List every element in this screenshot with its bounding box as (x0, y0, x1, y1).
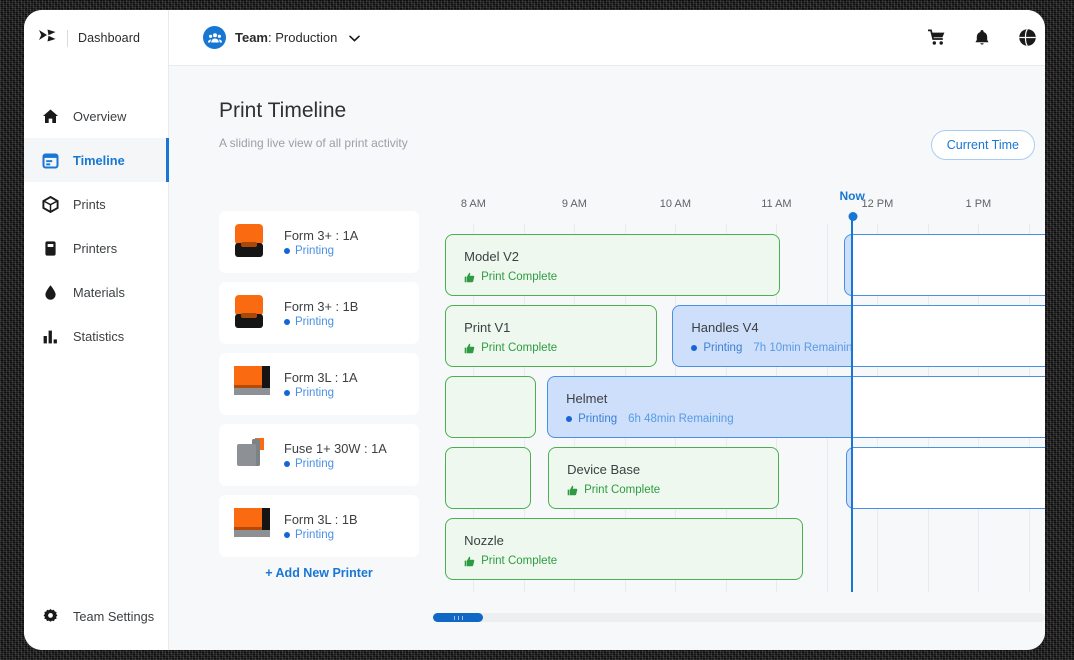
job-title: Device Base (567, 462, 778, 477)
thumbs-up-icon (464, 343, 475, 354)
main-content: Print Timeline A sliding live view of al… (169, 66, 1045, 650)
now-dot (849, 212, 858, 221)
sidebar: Dashboard Overview Timeline (24, 10, 169, 650)
form3l-printer-icon (233, 365, 271, 403)
printer-status: Printing (284, 245, 358, 257)
printer-status-label: Printing (295, 529, 334, 541)
team-prefix: Team (235, 30, 268, 45)
sidebar-nav: Overview Timeline Prints (24, 94, 168, 358)
job-status: Print Complete (464, 342, 656, 354)
axis-tick-label: 10 AM (660, 198, 691, 210)
printer-card[interactable]: Fuse 1+ 30W : 1APrinting (219, 424, 419, 486)
timeline-job-block[interactable] (445, 447, 531, 509)
job-status-label: Printing (703, 342, 742, 354)
printer-status-label: Printing (295, 387, 334, 399)
printer-icon (42, 240, 59, 257)
thumbs-up-icon (567, 485, 578, 496)
sidebar-item-label: Overview (73, 109, 126, 124)
printer-name: Fuse 1+ 30W : 1A (284, 441, 387, 456)
printer-status: Printing (284, 316, 358, 328)
axis-tick-label: 1 PM (966, 198, 992, 210)
sidebar-item-label: Prints (73, 197, 106, 212)
timeline-job-block[interactable] (445, 376, 536, 438)
job-status-label: Print Complete (481, 271, 557, 283)
timeline-job-block[interactable]: Model V2Print Complete (445, 234, 780, 296)
thumbs-up-icon (464, 556, 475, 567)
team-name: Production (275, 30, 337, 45)
bell-icon[interactable] (974, 29, 990, 46)
timeline-rows: Model V2Print CompleteBike PedalPrinting… (433, 224, 1045, 592)
printer-name: Form 3L : 1B (284, 512, 358, 527)
job-future-overlay (852, 376, 1045, 438)
axis-tick-label: 11 AM (761, 198, 791, 210)
printer-status: Printing (284, 529, 358, 541)
current-time-button[interactable]: Current Time (931, 130, 1035, 160)
status-dot-icon (284, 390, 290, 396)
status-dot-icon (566, 416, 572, 422)
job-future-overlay (852, 305, 1045, 367)
axis-tick-label: 12 PM (861, 198, 893, 210)
job-status-label: Print Complete (481, 342, 557, 354)
sidebar-item-label: Timeline (73, 153, 125, 168)
chevron-down-icon[interactable] (349, 29, 360, 47)
status-dot-icon (284, 461, 290, 467)
form3l-printer-icon (233, 507, 271, 545)
status-dot-icon (691, 345, 697, 351)
page-title: Print Timeline (219, 99, 346, 123)
printer-card[interactable]: Form 3+ : 1APrinting (219, 211, 419, 273)
sidebar-item-label: Printers (73, 241, 117, 256)
sidebar-item-prints[interactable]: Prints (24, 182, 168, 226)
status-dot-icon (284, 248, 290, 254)
printer-name: Form 3+ : 1B (284, 299, 358, 314)
app-window: Dashboard Overview Timeline (24, 10, 1045, 650)
topbar: Team: Production (169, 10, 1045, 66)
job-title: Print V1 (464, 320, 656, 335)
timeline-job-block[interactable]: Print V1Print Complete (445, 305, 657, 367)
timeline-row: Device BasePrint CompleteStructure 2Prin… (433, 447, 1045, 509)
status-dot-icon (284, 319, 290, 325)
bar-chart-icon (42, 328, 59, 345)
form3-printer-icon (233, 294, 271, 332)
axis-tick-label: 9 AM (562, 198, 587, 210)
printer-status-label: Printing (295, 316, 334, 328)
sidebar-item-overview[interactable]: Overview (24, 94, 168, 138)
sidebar-item-label: Materials (73, 285, 125, 300)
axis-tick-label: 8 AM (461, 198, 486, 210)
gear-icon (42, 608, 59, 625)
team-label: Team: Production (235, 30, 337, 45)
timeline: Form 3+ : 1APrintingForm 3+ : 1BPrinting… (169, 186, 1045, 650)
job-remaining-label: 7h 10min Remaining (753, 342, 858, 354)
job-status-label: Print Complete (584, 484, 660, 496)
status-dot-icon (284, 532, 290, 538)
printer-card[interactable]: Form 3+ : 1BPrinting (219, 282, 419, 344)
cube-icon (42, 196, 59, 213)
sidebar-item-timeline[interactable]: Timeline (24, 138, 168, 182)
home-icon (42, 108, 59, 125)
timeline-row: HelmetPrinting6h 48min Remaining (433, 376, 1045, 438)
sidebar-item-materials[interactable]: Materials (24, 270, 168, 314)
sidebar-item-label: Statistics (73, 329, 124, 344)
fuse-printer-icon (233, 436, 271, 474)
job-future-overlay (852, 234, 1045, 296)
team-avatar-icon (203, 26, 226, 49)
sidebar-item-label: Team Settings (73, 609, 154, 624)
printer-name: Form 3+ : 1A (284, 228, 358, 243)
timeline-row: Model V2Print CompleteBike PedalPrinting… (433, 234, 1045, 296)
scrollbar-thumb[interactable] (433, 613, 483, 622)
job-status: Print Complete (464, 555, 802, 567)
brand-label: Dashboard (78, 31, 140, 45)
team-selector[interactable]: Team: Production (203, 26, 360, 49)
brand[interactable]: Dashboard (24, 10, 168, 66)
printer-status: Printing (284, 458, 387, 470)
job-status: Print Complete (567, 484, 778, 496)
droplet-icon (42, 284, 59, 301)
now-line (851, 216, 853, 592)
brand-logo-icon (38, 28, 57, 48)
horizontal-scrollbar[interactable] (433, 613, 1045, 622)
sidebar-item-printers[interactable]: Printers (24, 226, 168, 270)
printer-name: Form 3L : 1A (284, 370, 358, 385)
printer-status-label: Printing (295, 245, 334, 257)
job-status-label: Printing (578, 413, 617, 425)
printer-card[interactable]: Form 3L : 1APrinting (219, 353, 419, 415)
job-title: Nozzle (464, 533, 802, 548)
sidebar-item-statistics[interactable]: Statistics (24, 314, 168, 358)
job-status-label: Print Complete (481, 555, 557, 567)
topbar-actions (928, 28, 1045, 47)
printer-status: Printing (284, 387, 358, 399)
timeline-job-block[interactable]: Device BasePrint Complete (548, 447, 779, 509)
brand-divider (67, 30, 68, 47)
timeline-axis: 8 AM9 AM10 AM11 AM12 PM1 PM2 PMNow (433, 198, 1045, 216)
cart-icon[interactable] (928, 29, 946, 46)
job-title: Model V2 (464, 249, 779, 264)
thumbs-up-icon (464, 272, 475, 283)
job-status: Print Complete (464, 271, 779, 283)
page-subtitle: A sliding live view of all print activit… (219, 136, 408, 150)
sidebar-item-team-settings[interactable]: Team Settings (24, 596, 168, 636)
job-remaining-label: 6h 48min Remaining (628, 413, 733, 425)
form3-printer-icon (233, 223, 271, 261)
add-new-printer-button[interactable]: + Add New Printer (219, 566, 419, 580)
printer-card[interactable]: Form 3L : 1BPrinting (219, 495, 419, 557)
job-future-overlay (852, 447, 1045, 509)
timeline-grid: 8 AM9 AM10 AM11 AM12 PM1 PM2 PMNow Model… (433, 186, 1045, 650)
timeline-row: NozzlePrint Complete (433, 518, 1045, 580)
now-label: Now (839, 189, 864, 203)
printer-status-label: Printing (295, 458, 334, 470)
timeline-job-block[interactable]: NozzlePrint Complete (445, 518, 803, 580)
globe-icon[interactable] (1018, 28, 1037, 47)
timeline-row: Print V1Print CompleteHandles V4Printing… (433, 305, 1045, 367)
calendar-icon (42, 152, 59, 169)
printer-list: Form 3+ : 1APrintingForm 3+ : 1BPrinting… (219, 211, 419, 580)
